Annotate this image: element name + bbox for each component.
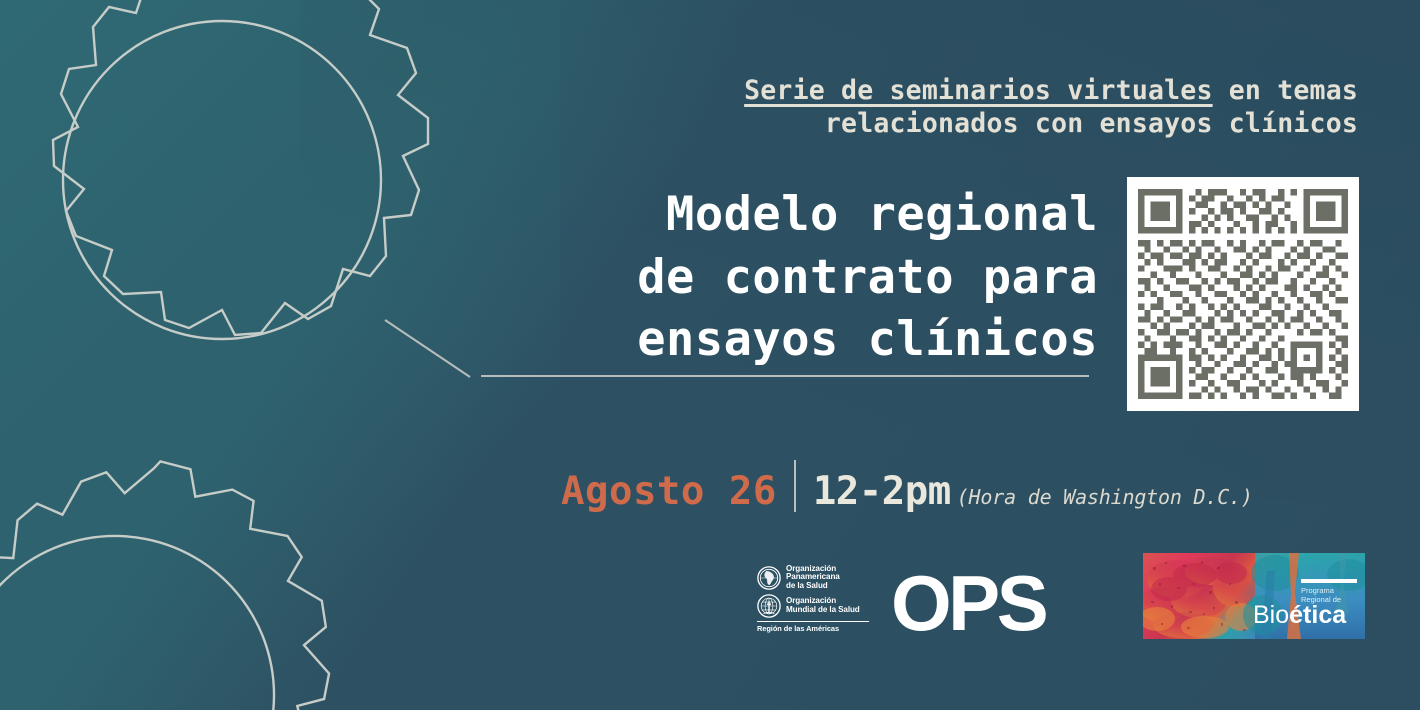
event-timezone: (Hora de Washington D.C.) [957, 485, 1253, 509]
paho-region-label: Región de las Américas [757, 624, 875, 633]
bioetica-programa-line1: Programa [1301, 586, 1335, 595]
who-emblem-icon [757, 594, 781, 618]
schedule-bar: Agosto 26 12-2pm (Hora de Washington D.C… [561, 452, 1253, 514]
title-line-1: Modelo regional [478, 184, 1098, 247]
who-name-line-2: Mundial de la Salud [786, 605, 860, 614]
kicker-underlined-text: Serie de seminarios virtuales [744, 75, 1212, 106]
event-time: 12-2pm [813, 469, 951, 514]
paho-row-who: Organización Mundial de la Salud [757, 594, 875, 618]
schedule-divider [794, 460, 796, 512]
paho-org-name: Organización Panamericana de la Salud [786, 565, 840, 591]
event-date: Agosto 26 [561, 469, 777, 514]
page-title: Modelo regional de contrato para ensayos… [478, 184, 1098, 372]
paho-logo: Organización Panamericana de la Salud [757, 556, 1045, 642]
title-line-3: ensayos clínicos [478, 309, 1098, 372]
kicker-line-2: relacionados con ensayos clínicos [598, 107, 1358, 140]
paho-row-pan-american: Organización Panamericana de la Salud [757, 565, 875, 591]
paho-globe-icon [757, 566, 781, 590]
series-kicker: Serie de seminarios virtuales en temas r… [598, 74, 1358, 141]
qr-code[interactable] [1127, 177, 1359, 411]
paho-name-line-3: de la Salud [786, 581, 828, 590]
qr-code-modules [1138, 188, 1348, 400]
bioetica-wordmark: Bioética [1253, 601, 1347, 629]
poster-canvas: Serie de seminarios virtuales en temas r… [0, 0, 1420, 710]
title-line-2: de contrato para [478, 247, 1098, 310]
title-underline-rule [481, 375, 1089, 377]
ops-acronym: OPS [891, 564, 1045, 642]
paho-name-line-2: Panamericana [786, 572, 840, 581]
paho-name-line-1: Organización [786, 564, 836, 573]
bioetica-logo[interactable]: Programa Regional de Bioética [1143, 553, 1365, 639]
paho-logo-text-block: Organización Panamericana de la Salud [757, 565, 875, 634]
kicker-line-1: Serie de seminarios virtuales en temas [598, 74, 1358, 107]
paho-divider [757, 621, 869, 622]
kicker-rest-text: en temas [1213, 75, 1358, 106]
who-org-name: Organización Mundial de la Salud [786, 597, 860, 614]
who-name-line-1: Organización [786, 596, 836, 605]
